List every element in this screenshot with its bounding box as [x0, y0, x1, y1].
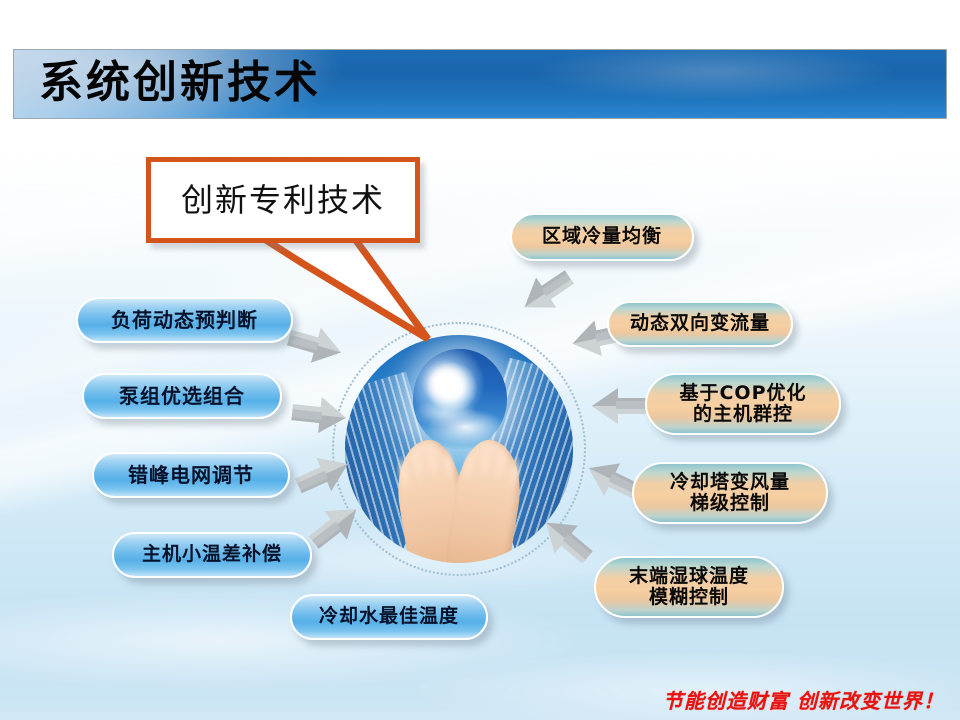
pill-label: 主机小温差补偿	[142, 544, 282, 565]
pill-label: 区域冷量均衡	[542, 226, 662, 247]
right-pill-1[interactable]: 区域冷量均衡	[510, 213, 694, 261]
left-pill-3[interactable]: 错峰电网调节	[92, 452, 290, 498]
left-pill-5[interactable]: 冷却水最佳温度	[290, 594, 488, 640]
footer-slogan: 节能创造财富 创新改变世界！	[663, 685, 944, 714]
pill-label: 冷却水最佳温度	[319, 606, 459, 627]
pill-label: 冷却塔变风量 梯级控制	[670, 472, 790, 515]
arrow-to-center-from-pump-group	[290, 392, 348, 437]
pill-label: 泵组优选组合	[119, 385, 245, 407]
right-pill-3[interactable]: 基于COP优化 的主机群控	[645, 373, 841, 435]
callout-text: 创新专利技术	[181, 184, 385, 216]
pill-label: 末端湿球温度 模糊控制	[629, 566, 749, 609]
pill-label: 错峰电网调节	[128, 464, 254, 486]
arrow-to-center-from-cop-control	[592, 386, 646, 426]
right-pill-2[interactable]: 动态双向变流量	[607, 301, 793, 347]
slide-root: 系统创新技术 负荷动态预判断泵组优选组合错峰电网调节主机小温差补偿冷却水最佳温度…	[0, 0, 960, 720]
callout-box: 创新专利技术	[146, 157, 420, 243]
right-pill-5[interactable]: 末端湿球温度 模糊控制	[594, 556, 784, 618]
pill-label: 负荷动态预判断	[111, 309, 258, 331]
header-banner: 系统创新技术	[13, 49, 947, 119]
pill-label: 基于COP优化 的主机群控	[679, 383, 806, 426]
left-pill-2[interactable]: 泵组优选组合	[82, 373, 282, 419]
left-pill-4[interactable]: 主机小温差补偿	[112, 532, 312, 578]
left-pill-1[interactable]: 负荷动态预判断	[76, 297, 293, 343]
callout: 创新专利技术	[146, 157, 420, 243]
right-pill-4[interactable]: 冷却塔变风量 梯级控制	[632, 462, 828, 524]
pill-label: 动态双向变流量	[630, 313, 770, 334]
page-title: 系统创新技术	[39, 61, 321, 105]
